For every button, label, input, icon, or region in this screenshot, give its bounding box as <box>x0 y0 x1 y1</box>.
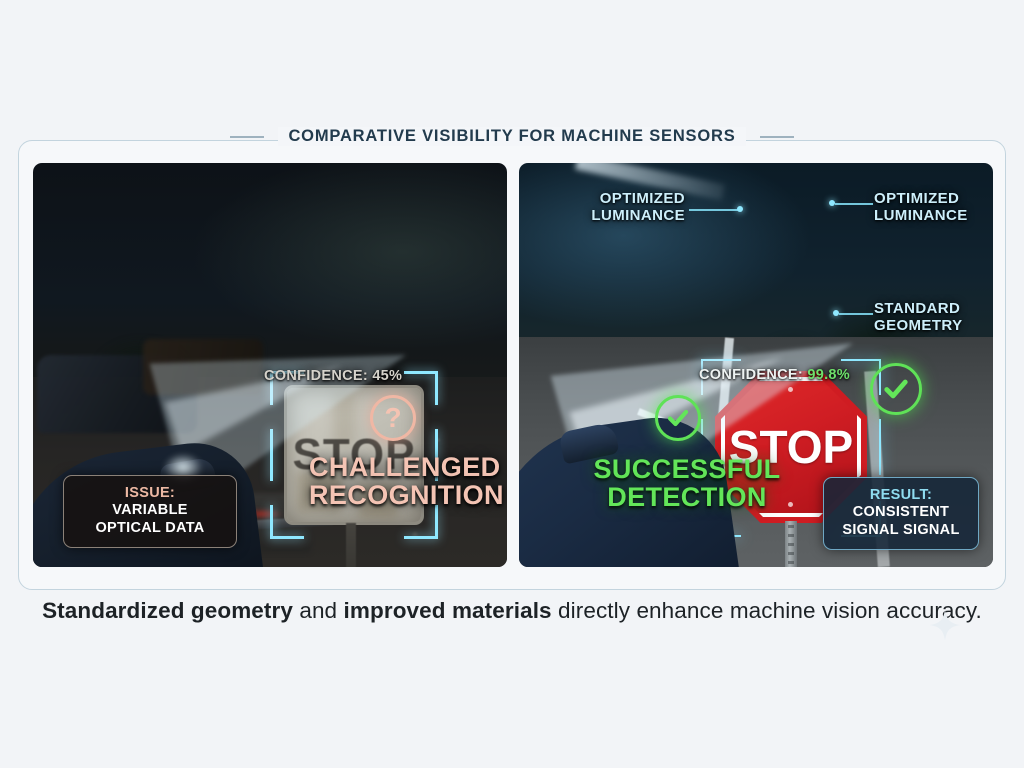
summary-caption: Standardized geometry and improved mater… <box>0 598 1024 624</box>
question-glyph: ? <box>384 404 401 432</box>
callout-right-line2: LUMINANCE <box>874 208 993 225</box>
confidence-readout-optimized: CONFIDENCE: 99.8% <box>699 367 850 383</box>
leader-line-right-top <box>835 203 873 205</box>
leader-line-geometry <box>839 313 873 315</box>
card-title-row: COMPARATIVE VISIBILITY FOR MACHINE SENSO… <box>19 127 1005 146</box>
result-tag-line2: SIGNAL SIGNAL <box>842 522 959 538</box>
verdict-optimized-line2: DETECTION <box>587 483 787 511</box>
issue-tag-heading: ISSUE: <box>78 485 222 502</box>
confidence-readout-degraded: CONFIDENCE: 45% <box>264 368 402 384</box>
caption-bold-1: Standardized geometry <box>42 598 293 623</box>
callout-left-line2: LUMINANCE <box>575 208 685 225</box>
comparison-card: COMPARATIVE VISIBILITY FOR MACHINE SENSO… <box>18 140 1006 590</box>
callout-optimized-luminance-right: OPTIMIZED LUMINANCE <box>874 191 993 225</box>
callout-geometry-line1: STANDARD <box>874 301 993 318</box>
callout-left-line1: OPTIMIZED <box>575 191 685 208</box>
verdict-degraded-line1: CHALLENGED <box>309 453 499 481</box>
callout-geometry-line2: GEOMETRY <box>874 318 993 335</box>
result-tag-box[interactable]: RESULT: CONSISTENT SIGNAL SIGNAL <box>823 477 979 550</box>
callout-right-line1: OPTIMIZED <box>874 191 993 208</box>
check-circle-icon-main <box>655 395 701 441</box>
sign-post-perforations <box>788 525 794 567</box>
panel-degraded[interactable]: STOP CONFIDENCE: 45% ? CHALLENGED RECOGN… <box>33 163 507 567</box>
leader-line-left <box>689 209 741 211</box>
title-rule-left <box>230 136 264 138</box>
caption-bold-2: improved materials <box>344 598 552 623</box>
verdict-degraded-line2: RECOGNITION <box>309 481 499 509</box>
sparkle-icon <box>928 608 962 642</box>
question-mark-icon: ? <box>370 395 416 441</box>
sign-post-degraded <box>346 523 356 567</box>
issue-tag-line2: OPTICAL DATA <box>95 520 204 536</box>
panel-optimized[interactable]: STOP OPTIMIZED LUMINANCE OPTIMIZED LUMIN… <box>519 163 993 567</box>
callout-standard-geometry: STANDARD GEOMETRY <box>874 301 993 335</box>
caption-mid: and <box>293 598 344 623</box>
result-tag-heading: RESULT: <box>838 487 964 504</box>
callout-optimized-luminance-left: OPTIMIZED LUMINANCE <box>575 191 685 225</box>
check-circle-icon-secondary <box>870 363 922 415</box>
verdict-optimized: SUCCESSFUL DETECTION <box>587 455 787 512</box>
title-rule-right <box>760 136 794 138</box>
verdict-optimized-line1: SUCCESSFUL <box>587 455 787 483</box>
leader-dot-geometry <box>833 310 839 316</box>
page-title: COMPARATIVE VISIBILITY FOR MACHINE SENSO… <box>278 127 745 146</box>
confidence-value: 99.8% <box>807 367 850 383</box>
issue-tag-box[interactable]: ISSUE: VARIABLE OPTICAL DATA <box>63 475 237 548</box>
leader-dot-right-top <box>829 200 835 206</box>
leader-dot-left <box>737 206 743 212</box>
confidence-prefix: CONFIDENCE: <box>699 367 803 383</box>
issue-tag-line1: VARIABLE <box>112 502 187 518</box>
verdict-degraded: CHALLENGED RECOGNITION <box>309 453 499 510</box>
result-tag-line1: CONSISTENT <box>853 504 949 520</box>
sign-bolt-bottom <box>788 502 793 507</box>
caption-tail: directly enhance machine vision accuracy… <box>552 598 982 623</box>
